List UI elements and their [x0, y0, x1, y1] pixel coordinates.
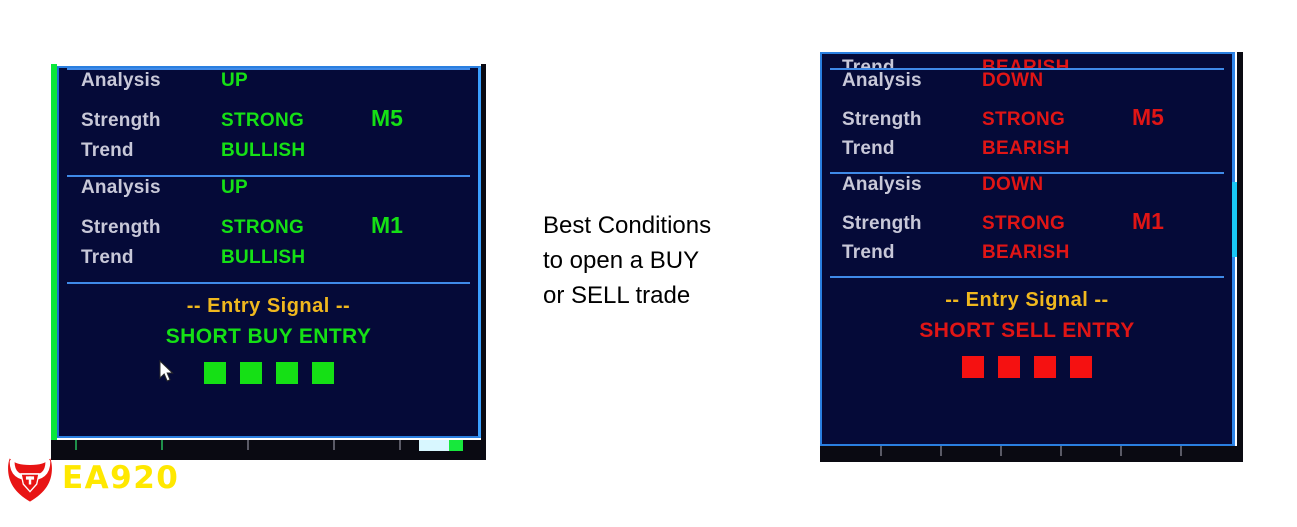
- row-label: Trend: [81, 247, 221, 269]
- row-value: DOWN: [982, 174, 1132, 196]
- row-value: STRONG: [221, 110, 371, 132]
- timeframe-label: M1: [1132, 208, 1164, 235]
- table-row: Analysis UP: [59, 70, 478, 105]
- signal-indicator-box: [240, 362, 262, 384]
- timeframe-label: M1: [371, 212, 403, 239]
- row-value: BULLISH: [221, 247, 371, 269]
- entry-signal-text: SHORT BUY ENTRY: [59, 325, 478, 349]
- row-label: Analysis: [81, 177, 221, 199]
- right-panel-dark-edge: [1237, 52, 1243, 446]
- row-value: STRONG: [982, 109, 1132, 131]
- chart-strip-right: [820, 446, 1243, 462]
- table-row: Trend BEARISH: [822, 242, 1232, 276]
- entry-signal-title: -- Entry Signal --: [59, 295, 478, 318]
- entry-signal-text: SHORT SELL ENTRY: [822, 319, 1232, 343]
- row-value: UP: [221, 70, 371, 92]
- signal-indicator-box: [1034, 356, 1056, 378]
- brand-logo: EA920: [4, 452, 179, 504]
- table-row: Analysis DOWN: [822, 70, 1232, 104]
- table-row: Strength STRONG M5: [822, 104, 1232, 138]
- brand-logo-text: EA920: [62, 460, 179, 496]
- table-row: Strength STRONG M1: [822, 208, 1232, 242]
- mouse-cursor: [159, 360, 175, 384]
- signal-indicator-box: [962, 356, 984, 378]
- signal-indicator-box: [276, 362, 298, 384]
- buy-signal-panel[interactable]: Analysis UP Strength STRONG M5 Trend BUL…: [57, 66, 481, 438]
- signal-indicator-box: [204, 362, 226, 384]
- table-row: Trend BULLISH: [59, 140, 478, 175]
- left-panel-dark-edge: [481, 64, 486, 440]
- table-row: Trend BEARISH: [822, 138, 1232, 172]
- caption-line-3: or SELL trade: [543, 278, 803, 313]
- row-value: STRONG: [982, 213, 1132, 235]
- entry-signal-block: -- Entry Signal -- SHORT SELL ENTRY: [822, 278, 1232, 378]
- signal-indicator-box: [1070, 356, 1092, 378]
- table-row: Analysis UP: [59, 177, 478, 212]
- row-value: UP: [221, 177, 371, 199]
- row-value: STRONG: [221, 217, 371, 239]
- timeframe-group-m5: Analysis DOWN Strength STRONG M5 Trend B…: [822, 70, 1232, 172]
- row-value: BEARISH: [982, 138, 1132, 160]
- row-value: BEARISH: [982, 57, 1132, 68]
- table-row-clipped: Trend BEARISH: [822, 54, 1232, 68]
- row-value: BEARISH: [982, 242, 1132, 264]
- row-label: Strength: [81, 110, 221, 132]
- row-label: Trend: [81, 140, 221, 162]
- entry-signal-title: -- Entry Signal --: [822, 289, 1232, 312]
- row-label: Analysis: [842, 174, 982, 196]
- timeframe-label: M5: [1132, 104, 1164, 131]
- signal-indicator-box: [312, 362, 334, 384]
- table-row: Strength STRONG M1: [59, 212, 478, 247]
- row-label: Trend: [842, 57, 982, 68]
- bull-shield-icon: [4, 452, 56, 504]
- caption-line-2: to open a BUY: [543, 243, 803, 278]
- row-label: Trend: [842, 242, 982, 264]
- table-row: Strength STRONG M5: [59, 105, 478, 140]
- row-label: Analysis: [842, 70, 982, 92]
- table-row: Analysis DOWN: [822, 174, 1232, 208]
- row-label: Trend: [842, 138, 982, 160]
- timeframe-group-m1: Analysis UP Strength STRONG M1 Trend BUL…: [59, 177, 478, 282]
- row-label: Strength: [842, 213, 982, 235]
- caption-line-1: Best Conditions: [543, 208, 803, 243]
- row-label: Strength: [81, 217, 221, 239]
- entry-signal-block: -- Entry Signal -- SHORT BUY ENTRY: [59, 284, 478, 384]
- table-row: Trend BULLISH: [59, 247, 478, 282]
- signal-indicator-box: [998, 356, 1020, 378]
- sell-signal-panel[interactable]: Trend BEARISH Analysis DOWN Strength STR…: [820, 52, 1235, 446]
- row-label: Strength: [842, 109, 982, 131]
- right-panel-cyan-accent: [1232, 182, 1237, 257]
- row-value: BULLISH: [221, 140, 371, 162]
- row-value: DOWN: [982, 70, 1132, 92]
- timeframe-group-m5: Analysis UP Strength STRONG M5 Trend BUL…: [59, 70, 478, 175]
- timeframe-group-m1: Analysis DOWN Strength STRONG M1 Trend B…: [822, 174, 1232, 276]
- signal-strength-indicators: [822, 356, 1232, 378]
- signal-strength-indicators: [59, 362, 478, 384]
- timeframe-label: M5: [371, 105, 403, 132]
- row-label: Analysis: [81, 70, 221, 92]
- caption-text: Best Conditions to open a BUY or SELL tr…: [543, 208, 803, 313]
